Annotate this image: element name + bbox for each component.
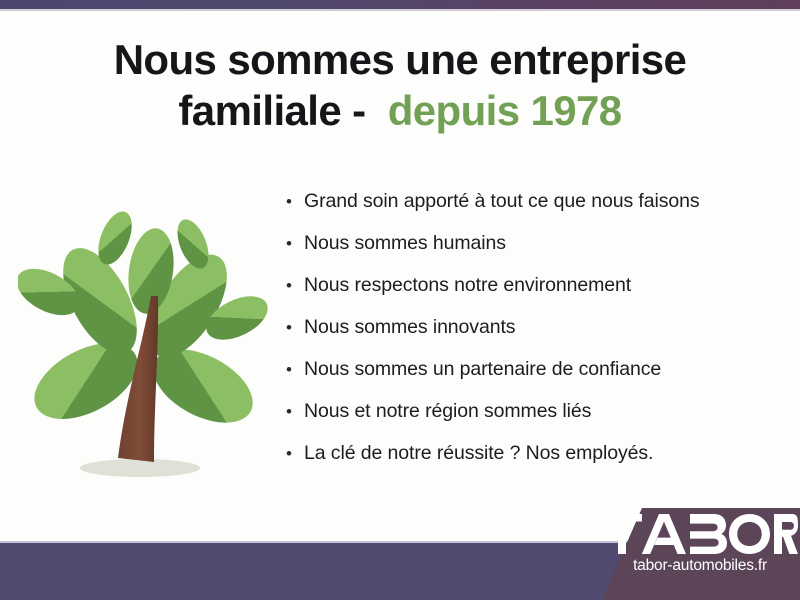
slide-canvas: Nous sommes une entreprise familiale - d… (0, 0, 800, 600)
top-accent-bar (0, 0, 800, 9)
brand-wordmark-tabor (602, 514, 798, 554)
list-item-label: Grand soin apporté à tout ce que nous fa… (304, 190, 700, 213)
list-item-label: La clé de notre réussite ? Nos employés. (304, 442, 653, 465)
brand-logo[interactable]: tabor-automobiles.fr (600, 508, 800, 596)
bullet-dot-icon: • (286, 403, 304, 420)
list-item: • La clé de notre réussite ? Nos employé… (286, 442, 786, 484)
list-item: • Nous sommes innovants (286, 316, 786, 358)
bullet-dot-icon: • (286, 235, 304, 252)
list-item: • Nous sommes un partenaire de confiance (286, 358, 786, 400)
title-line-2: familiale - depuis 1978 (0, 85, 800, 136)
bullet-dot-icon: • (286, 445, 304, 462)
title-line-2-plain: familiale - (178, 87, 365, 134)
bullet-dot-icon: • (286, 319, 304, 336)
title-line-1: Nous sommes une entreprise (0, 34, 800, 85)
list-item-label: Nous sommes humains (304, 232, 506, 255)
list-item: • Nous respectons notre environnement (286, 274, 786, 316)
bullet-dot-icon: • (286, 361, 304, 378)
list-item: • Grand soin apporté à tout ce que nous … (286, 190, 786, 232)
tree-ground-shadow (80, 459, 200, 477)
bullet-list: • Grand soin apporté à tout ce que nous … (286, 190, 786, 484)
list-item-label: Nous sommes innovants (304, 316, 515, 339)
list-item: • Nous sommes humains (286, 232, 786, 274)
top-accent-bar-highlight (0, 9, 800, 11)
tree-illustration (18, 196, 268, 496)
brand-url: tabor-automobiles.fr (633, 557, 767, 575)
page-title: Nous sommes une entreprise familiale - d… (0, 34, 800, 136)
bullet-dot-icon: • (286, 193, 304, 210)
list-item-label: Nous respectons notre environnement (304, 274, 631, 297)
list-item-label: Nous et notre région sommes liés (304, 400, 591, 423)
list-item-label: Nous sommes un partenaire de confiance (304, 358, 661, 381)
title-line-2-accent: depuis 1978 (388, 87, 622, 134)
list-item: • Nous et notre région sommes liés (286, 400, 786, 442)
bullet-dot-icon: • (286, 277, 304, 294)
